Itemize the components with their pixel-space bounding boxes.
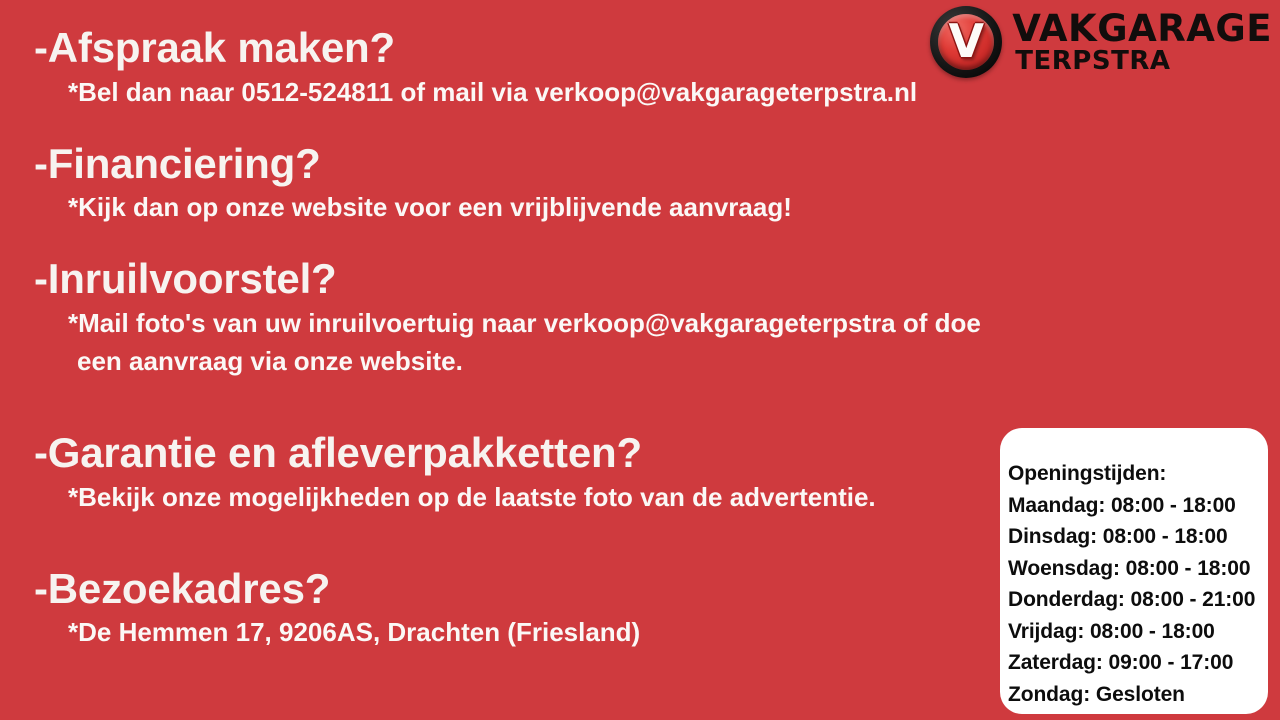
section-spacer bbox=[34, 114, 1054, 140]
section-spacer bbox=[34, 519, 1054, 565]
section-body: *Bekijk onze mogelijkheden op de laatste… bbox=[68, 479, 1054, 517]
section-afspraak-maken: -Afspraak maken? *Bel dan naar 0512-5248… bbox=[34, 24, 1054, 112]
opening-hours-row-tuesday: Dinsdag: 08:00 - 18:00 bbox=[1008, 521, 1268, 553]
opening-hours-row-monday: Maandag: 08:00 - 18:00 bbox=[1008, 490, 1268, 522]
section-body: *Mail foto's van uw inruilvoertuig naar … bbox=[68, 305, 1054, 381]
section-line: *Bel dan naar 0512-524811 of mail via ve… bbox=[68, 74, 1054, 112]
section-heading: -Garantie en afleverpakketten? bbox=[34, 429, 1054, 478]
section-body: *Kijk dan op onze website voor een vrijb… bbox=[68, 189, 1054, 227]
opening-hours-title: Openingstijden: bbox=[1008, 458, 1268, 490]
opening-hours-row-wednesday: Woensdag: 08:00 - 18:00 bbox=[1008, 553, 1268, 585]
opening-hours-row-saturday: Zaterdag: 09:00 - 17:00 bbox=[1008, 647, 1268, 679]
section-line: *Bekijk onze mogelijkheden op de laatste… bbox=[68, 479, 1054, 517]
section-inruilvoorstel: -Inruilvoorstel? *Mail foto's van uw inr… bbox=[34, 255, 1054, 381]
section-heading: -Bezoekadres? bbox=[34, 565, 1054, 614]
section-line: *Mail foto's van uw inruilvoertuig naar … bbox=[68, 305, 1054, 343]
opening-hours-card: Openingstijden: Maandag: 08:00 - 18:00 D… bbox=[1000, 428, 1268, 714]
section-line: een aanvraag via onze website. bbox=[77, 343, 1054, 381]
section-heading: -Afspraak maken? bbox=[34, 24, 1054, 73]
section-spacer bbox=[34, 383, 1054, 429]
opening-hours-row-thursday: Donderdag: 08:00 - 21:00 bbox=[1008, 584, 1268, 616]
vakgarage-logo: V VAKGARAGE TERPSTRA bbox=[930, 6, 1272, 78]
section-bezoekadres: -Bezoekadres? *De Hemmen 17, 9206AS, Dra… bbox=[34, 565, 1054, 653]
section-body: *De Hemmen 17, 9206AS, Drachten (Friesla… bbox=[68, 614, 1054, 652]
section-spacer bbox=[34, 229, 1054, 255]
section-line: *Kijk dan op onze website voor een vrijb… bbox=[68, 189, 1054, 227]
section-heading: -Financiering? bbox=[34, 140, 1054, 189]
section-heading: -Inruilvoorstel? bbox=[34, 255, 1054, 304]
info-sections: -Afspraak maken? *Bel dan naar 0512-5248… bbox=[34, 24, 1054, 654]
badge-letter: V bbox=[948, 18, 984, 64]
section-body: *Bel dan naar 0512-524811 of mail via ve… bbox=[68, 74, 1054, 112]
section-line: *De Hemmen 17, 9206AS, Drachten (Friesla… bbox=[68, 614, 1054, 652]
opening-hours-row-sunday: Zondag: Gesloten bbox=[1008, 679, 1268, 711]
section-financiering: -Financiering? *Kijk dan op onze website… bbox=[34, 140, 1054, 228]
section-garantie-en-afleverpakketten: -Garantie en afleverpakketten? *Bekijk o… bbox=[34, 429, 1054, 517]
opening-hours-row-friday: Vrijdag: 08:00 - 18:00 bbox=[1008, 616, 1268, 648]
